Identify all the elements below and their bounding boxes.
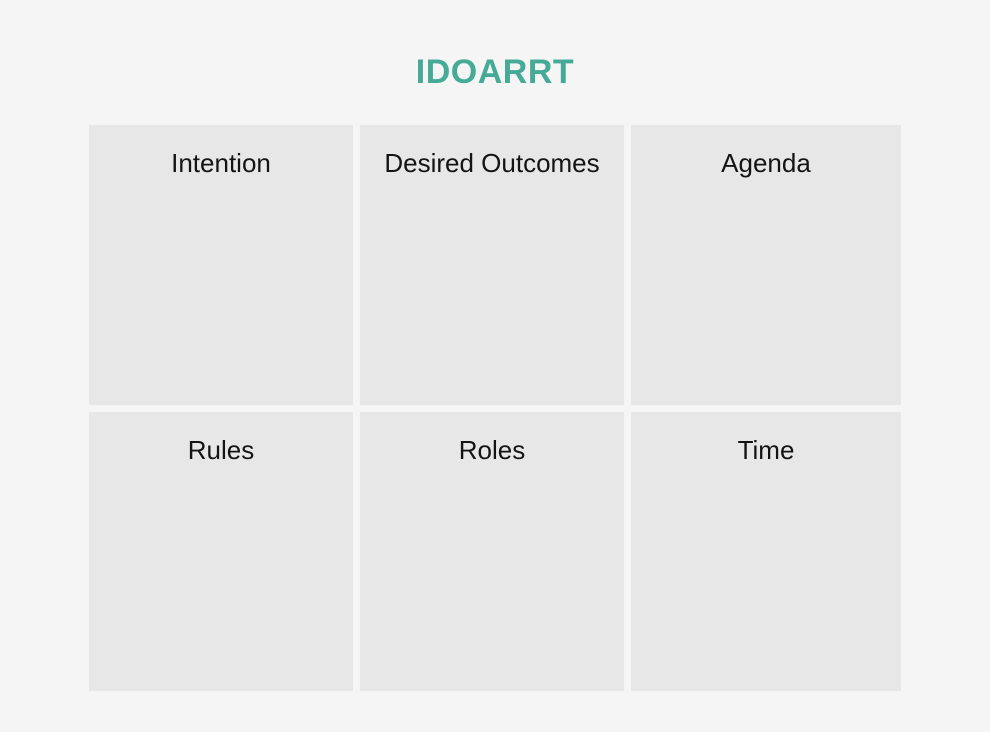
- cell-label-rules: Rules: [89, 434, 353, 466]
- cell-rules[interactable]: Rules: [89, 412, 353, 691]
- cell-content-intention[interactable]: [89, 185, 353, 405]
- cell-time[interactable]: Time: [631, 412, 901, 691]
- cell-content-time[interactable]: [631, 472, 901, 691]
- cell-label-intention: Intention: [89, 147, 353, 179]
- cell-label-desired-outcomes: Desired Outcomes: [360, 147, 624, 179]
- cell-label-time: Time: [631, 434, 901, 466]
- idoarrt-template-page: IDOARRT Intention Desired Outcomes Agend…: [0, 0, 990, 732]
- cell-content-rules[interactable]: [89, 472, 353, 691]
- cell-intention[interactable]: Intention: [89, 125, 353, 405]
- cell-desired-outcomes[interactable]: Desired Outcomes: [360, 125, 624, 405]
- cell-label-agenda: Agenda: [631, 147, 901, 179]
- cell-content-roles[interactable]: [360, 472, 624, 691]
- idoarrt-grid: Intention Desired Outcomes Agenda Rules …: [89, 125, 901, 691]
- cell-agenda[interactable]: Agenda: [631, 125, 901, 405]
- cell-content-desired-outcomes[interactable]: [360, 185, 624, 405]
- cell-content-agenda[interactable]: [631, 185, 901, 405]
- page-title: IDOARRT: [0, 50, 990, 94]
- cell-label-roles: Roles: [360, 434, 624, 466]
- cell-roles[interactable]: Roles: [360, 412, 624, 691]
